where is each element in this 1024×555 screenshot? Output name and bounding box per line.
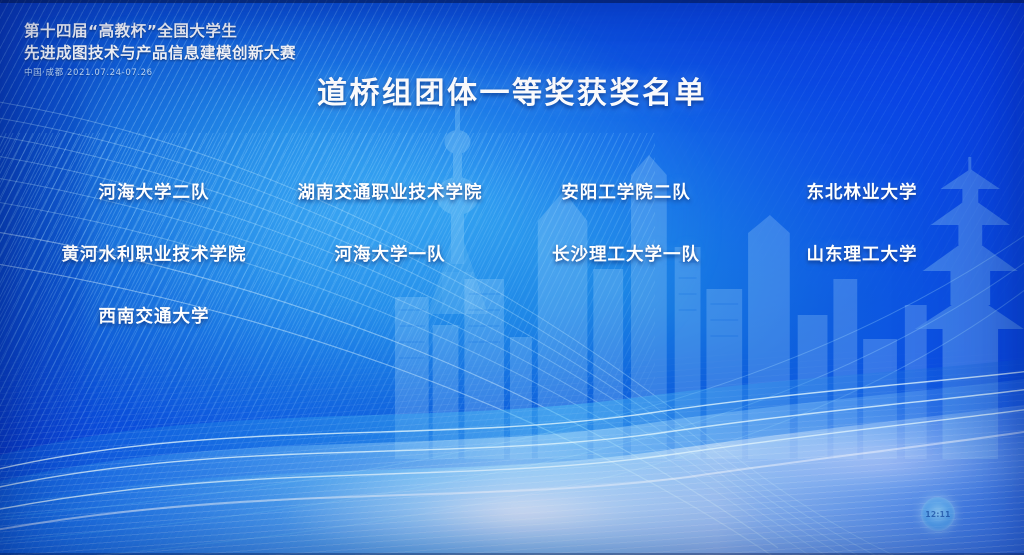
banner-line-1: 第十四届“高教杯”全国大学生 — [24, 22, 454, 41]
winner-name: 河海大学一队 — [272, 241, 508, 266]
winner-name: 湖南交通职业技术学院 — [272, 179, 508, 204]
winner-name: 河海大学二队 — [36, 179, 272, 204]
top-edge-border — [0, 0, 1024, 3]
page-title: 道桥组团体一等奖获奖名单 — [0, 68, 1024, 112]
winner-row: 西南交通大学 — [36, 284, 980, 346]
winner-name: 黄河水利职业技术学院 — [36, 241, 272, 266]
winner-name: 山东理工大学 — [744, 241, 980, 266]
clock-watermark-badge: 12:11 — [921, 497, 955, 531]
bottom-scanline-texture — [0, 345, 1024, 555]
winner-row: 河海大学二队 湖南交通职业技术学院 安阳工学院二队 东北林业大学 — [36, 160, 980, 222]
winner-name: 西南交通大学 — [36, 303, 272, 328]
winner-list: 河海大学二队 湖南交通职业技术学院 安阳工学院二队 东北林业大学 黄河水利职业技… — [36, 160, 980, 346]
winner-name: 安阳工学院二队 — [508, 179, 744, 204]
winner-name: 长沙理工大学一队 — [508, 241, 744, 266]
winner-name: 东北林业大学 — [744, 179, 980, 204]
slide-canvas: 第十四届“高教杯”全国大学生 先进成图技术与产品信息建模创新大赛 中国·成都 2… — [0, 0, 1024, 555]
winner-row: 黄河水利职业技术学院 河海大学一队 长沙理工大学一队 山东理工大学 — [36, 222, 980, 284]
clock-watermark-label: 12:11 — [925, 510, 950, 519]
banner-line-2: 先进成图技术与产品信息建模创新大赛 — [24, 43, 454, 63]
